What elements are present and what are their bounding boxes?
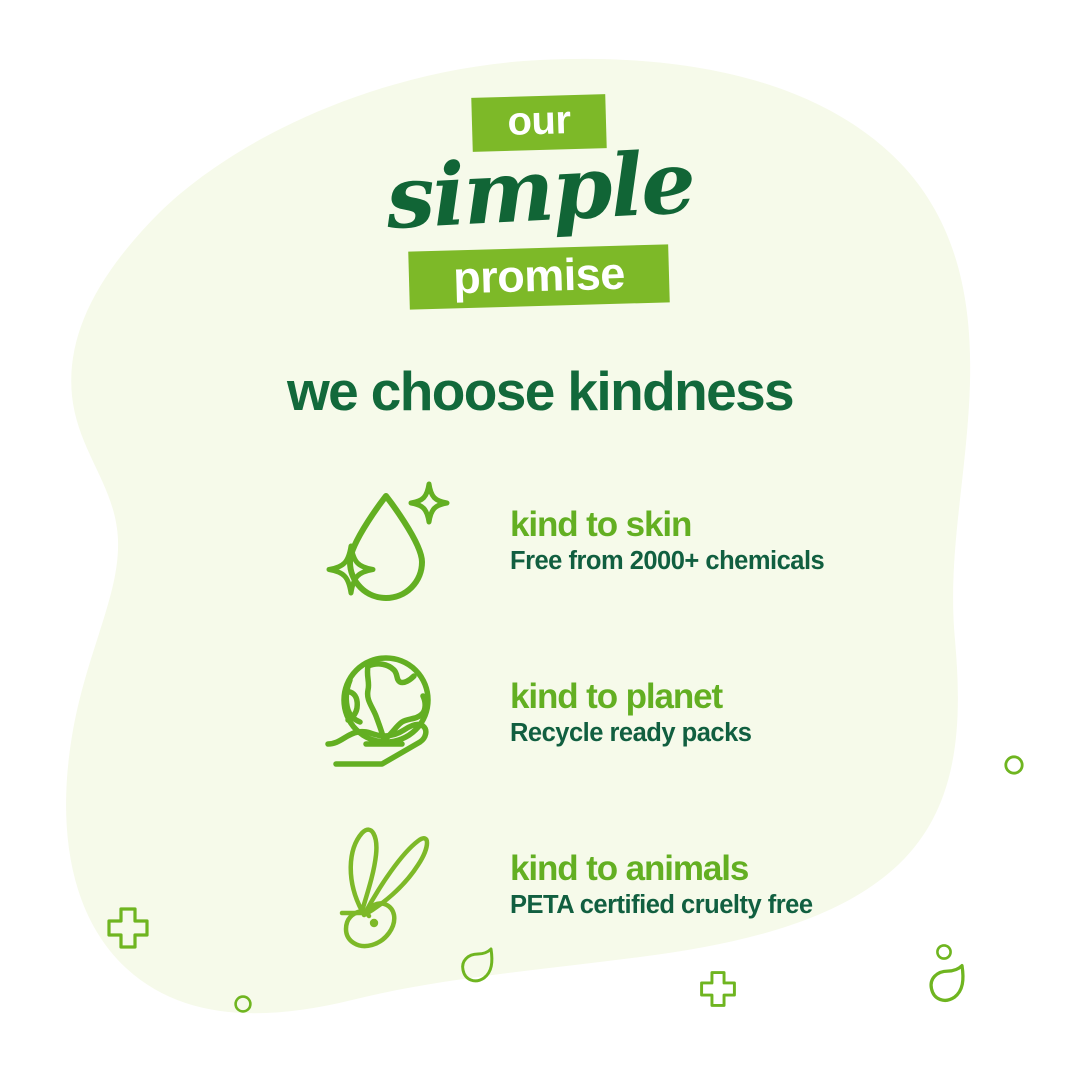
promise-graphic: our simple promise we choose kindness [0,0,1080,1080]
feature-text: kind to animals PETA certified cruelty f… [454,850,813,920]
circle-icon [232,993,254,1015]
feature-row: kind to skin Free from 2000+ chemicals [318,478,938,604]
feature-row: kind to animals PETA certified cruelty f… [318,822,938,948]
feature-row: kind to planet Recycle ready packs [318,650,938,776]
tag-promise-label: promise [453,250,626,304]
plus-icon [106,906,150,950]
feature-title: kind to animals [510,850,813,888]
feature-title: kind to skin [510,506,824,544]
circle-icon [1002,753,1026,777]
feature-title: kind to planet [510,678,751,716]
plus-icon [699,970,737,1008]
leaf-icon [458,942,502,986]
feature-text: kind to planet Recycle ready packs [454,678,751,748]
feature-subtitle: Recycle ready packs [510,718,751,749]
feature-subtitle: PETA certified cruelty free [510,890,813,921]
water-droplet-sparkle-icon [318,478,454,604]
tag-promise: promise [408,244,670,309]
logo-lockup: our simple promise [0,0,1080,330]
leaf-icon [926,958,974,1006]
globe-in-hand-icon [318,650,454,776]
page-title: we choose kindness [0,364,1080,419]
feature-subtitle: Free from 2000+ chemicals [510,546,824,577]
script-simple: simple [0,120,1080,262]
feature-text: kind to skin Free from 2000+ chemicals [454,506,824,576]
feature-list: kind to skin Free from 2000+ chemicals [318,478,938,994]
bunny-rabbit-icon [318,822,454,948]
